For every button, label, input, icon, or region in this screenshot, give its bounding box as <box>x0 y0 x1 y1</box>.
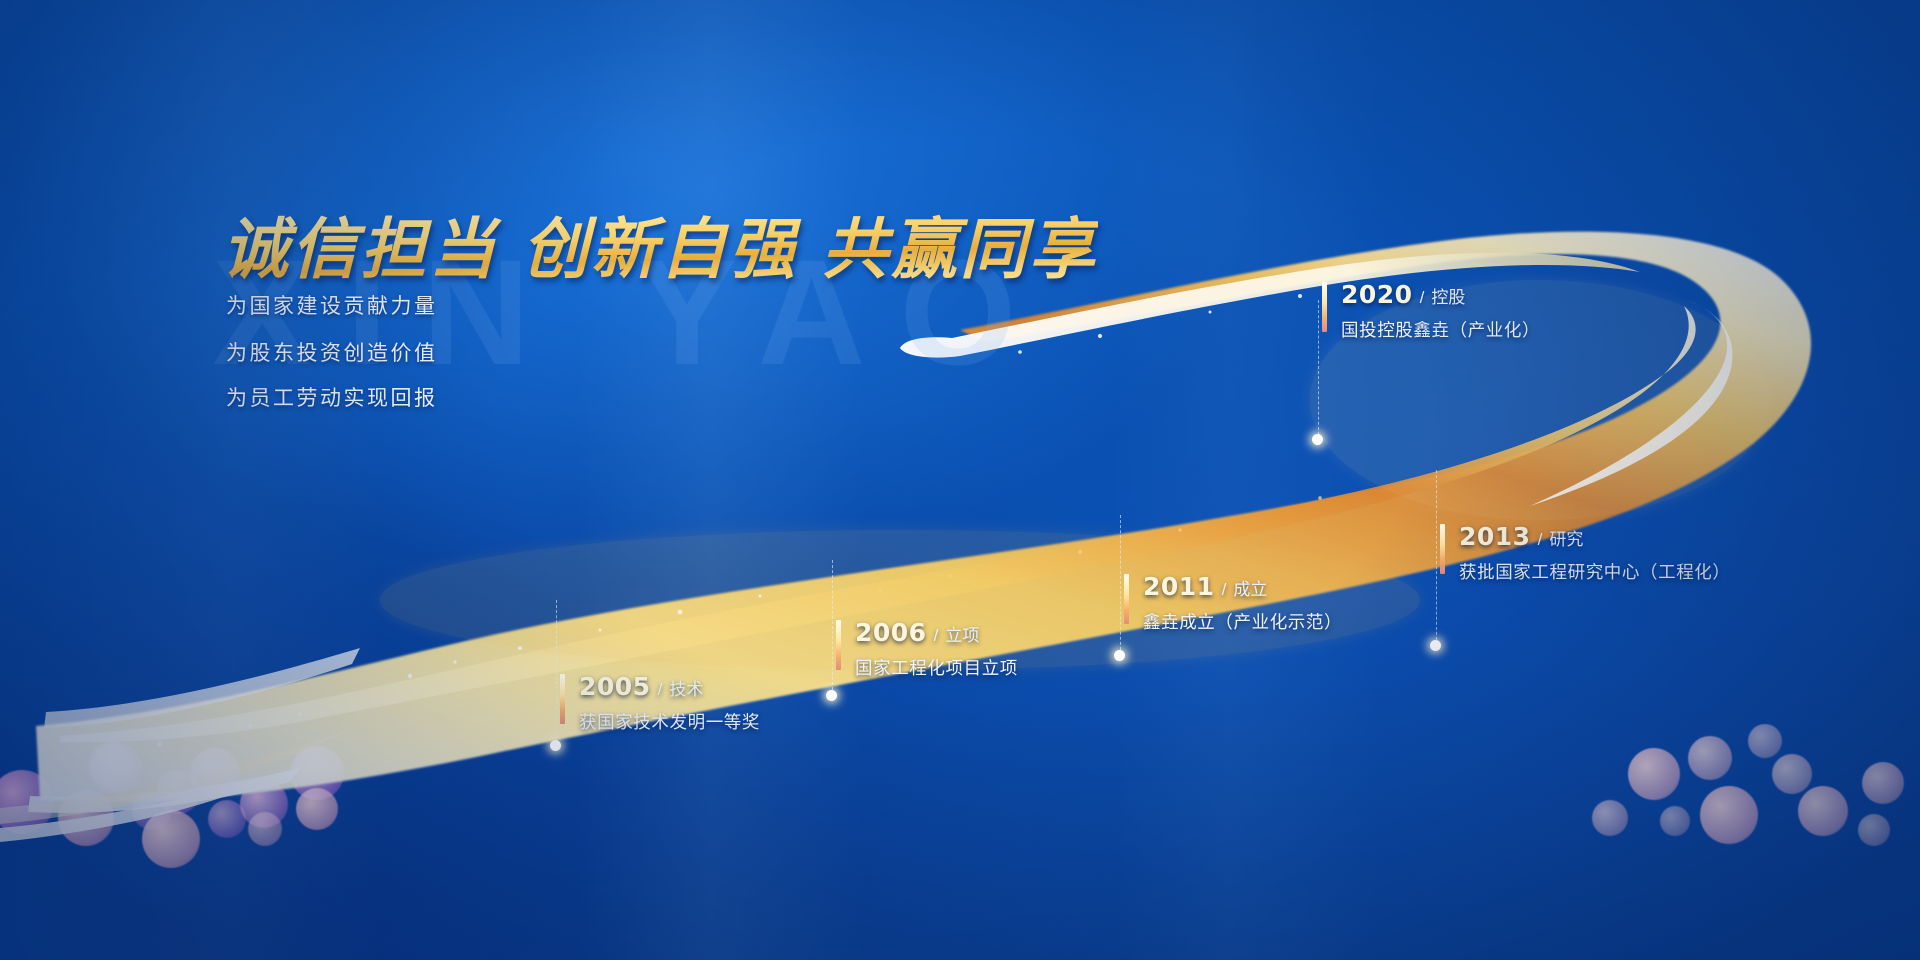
subline-3: 为员工劳动实现回报 <box>226 382 438 412</box>
marker-accent-bar <box>1124 574 1129 624</box>
marker-year: 2005 <box>579 672 651 701</box>
marker-separator: / <box>1420 288 1425 307</box>
marker-separator: / <box>934 626 939 645</box>
leader-line-2013 <box>1436 470 1437 645</box>
timeline-marker-2020[interactable]: 2020/控股 国投控股鑫垚（产业化） <box>1322 280 1540 342</box>
headline-part-1: 诚信担当 <box>222 211 498 288</box>
marker-year: 2006 <box>855 618 927 647</box>
timeline-dot-2005 <box>550 740 561 751</box>
marker-description: 获国家技术发明一等奖 <box>579 709 760 734</box>
timeline-marker-2006[interactable]: 2006/立项 国家工程化项目立项 <box>836 618 1018 680</box>
timeline-marker-2011[interactable]: 2011/成立 鑫垚成立（产业化示范） <box>1124 572 1342 634</box>
marker-accent-bar <box>1440 524 1445 574</box>
marker-year: 2020 <box>1341 280 1413 309</box>
vignette-overlay <box>0 0 1920 960</box>
marker-tag: 研究 <box>1549 530 1583 549</box>
timeline-marker-2013[interactable]: 2013/研究 获批国家工程研究中心（工程化） <box>1440 522 1731 584</box>
marker-description: 获批国家工程研究中心（工程化） <box>1459 559 1731 584</box>
timeline-dot-2020 <box>1312 434 1323 445</box>
timeline-dot-2011 <box>1114 650 1125 661</box>
marker-separator: / <box>658 680 663 699</box>
brushstroke-swoosh <box>0 0 1920 960</box>
marker-description: 鑫垚成立（产业化示范） <box>1143 609 1342 634</box>
marker-separator: / <box>1538 530 1543 549</box>
headline-part-2: 创新自强 <box>522 211 798 288</box>
timeline-dot-2006 <box>826 690 837 701</box>
marker-tag: 技术 <box>669 680 703 699</box>
leader-line-2011 <box>1120 515 1121 655</box>
leader-line-2006 <box>832 560 833 695</box>
leader-line-2020 <box>1318 300 1319 440</box>
page-title: 诚信担当创新自强共赢同享 <box>222 196 1098 292</box>
marker-tag: 成立 <box>1233 580 1267 599</box>
subline-2: 为股东投资创造价值 <box>226 337 438 367</box>
background-light-streaks <box>0 0 1920 960</box>
banner-canvas: XIN YAO 诚信担当创新自强共赢同享 为国家建设贡献力量 为股东投资创造价值… <box>0 0 1920 960</box>
timeline-marker-2005[interactable]: 2005/技术 获国家技术发明一等奖 <box>560 672 760 734</box>
headline-part-3: 共赢同享 <box>822 211 1098 288</box>
marker-tag: 立项 <box>945 626 979 645</box>
marker-description: 国家工程化项目立项 <box>855 655 1018 680</box>
marker-year: 2011 <box>1143 572 1215 601</box>
marker-accent-bar <box>1322 282 1327 332</box>
timeline-dot-2013 <box>1430 640 1441 651</box>
marker-description: 国投控股鑫垚（产业化） <box>1341 317 1540 342</box>
marker-year: 2013 <box>1459 522 1531 551</box>
marker-accent-bar <box>560 674 565 724</box>
marker-separator: / <box>1222 580 1227 599</box>
marker-accent-bar <box>836 620 841 670</box>
subline-1: 为国家建设贡献力量 <box>226 290 438 320</box>
marker-tag: 控股 <box>1431 288 1465 307</box>
leader-line-2005 <box>556 600 557 745</box>
